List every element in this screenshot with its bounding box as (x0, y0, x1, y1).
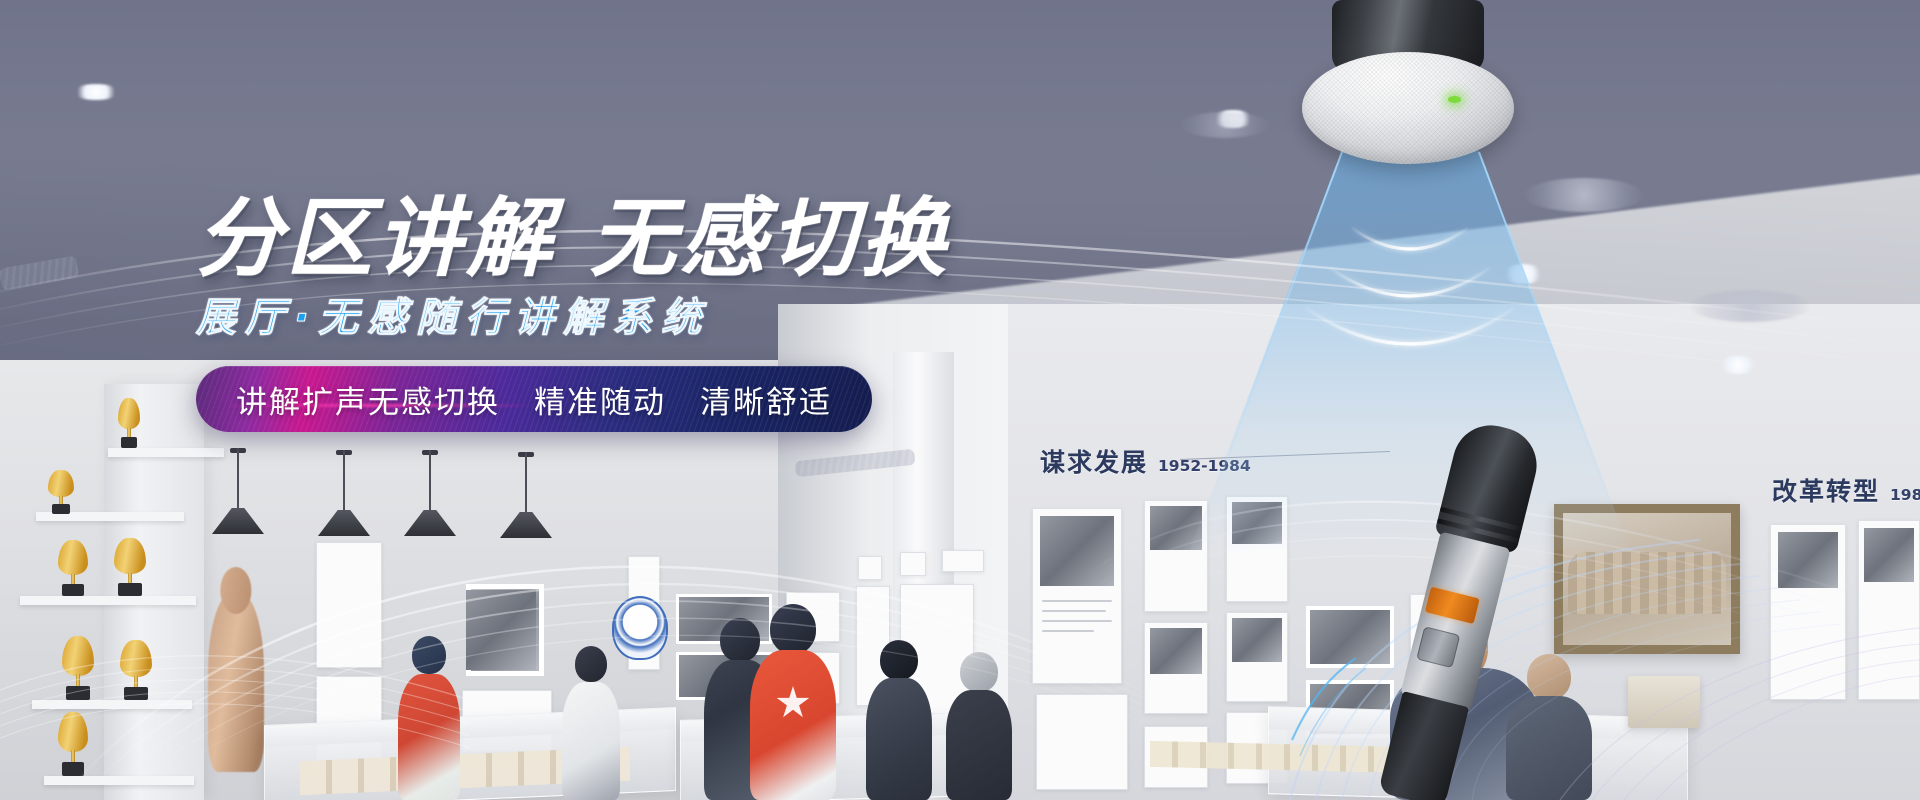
wall-section-title-2: 改革转型1984-2010 (1772, 472, 1920, 508)
trophy (118, 398, 140, 448)
school-emblem (612, 596, 668, 660)
power-led (1448, 96, 1461, 103)
visitor (398, 636, 460, 800)
trophy-display-shelf (44, 776, 194, 785)
pendant-lamp (400, 450, 460, 542)
visitor-body (750, 650, 836, 800)
visitor-head (960, 652, 998, 692)
ceiling-panel-3 (1180, 112, 1270, 138)
exhibit-photo (1306, 606, 1394, 668)
speaker-grille (1302, 52, 1514, 164)
ceiling-downlight-4 (1718, 356, 1758, 374)
banner-stage: 谋求发展1952-1984 改革转型1984-2010 (0, 0, 1920, 800)
exhibit-photo-portrait (466, 590, 536, 670)
wall-section-name: 谋求发展 (1040, 448, 1148, 477)
feature-label-1: 讲解扩声无感切换 (236, 377, 500, 422)
feature-label-3: 清晰舒适 (700, 377, 832, 422)
visitor (866, 640, 932, 800)
trophy (62, 636, 94, 700)
banner-text-block: 分区讲解 无感切换 展厅·无感随行讲解系统 讲解扩声无感切换 精准随动 清晰舒适 (196, 196, 950, 432)
visitor-body (562, 682, 620, 800)
visitor-body (398, 674, 460, 800)
wall-section-name: 改革转型 (1772, 477, 1880, 506)
visitor-head (575, 646, 607, 682)
visitor-head (770, 604, 816, 654)
trophy (120, 640, 152, 700)
feature-pill: 讲解扩声无感切换 精准随动 清晰舒适 (196, 366, 872, 432)
microphone-handle-base (1378, 691, 1468, 800)
wall-section-years: 1984-2010 (1890, 486, 1920, 504)
visitor (946, 652, 1012, 800)
visitor-head-with-cap (880, 640, 918, 680)
exhibit-panel (900, 552, 926, 576)
trophy (58, 540, 88, 596)
exhibit-photo (1040, 516, 1114, 586)
exhibit-photo (1150, 628, 1202, 674)
trophy-display-shelf (32, 700, 192, 709)
terracotta-statue (208, 592, 264, 772)
feature-label-2: 精准随动 (534, 377, 666, 422)
pendant-lamp (314, 450, 374, 542)
panel-text-line (1042, 620, 1112, 622)
panel-text-line (1042, 600, 1112, 602)
visitor-red-vest (750, 604, 836, 800)
visitor-body (946, 690, 1012, 800)
exhibit-panel (858, 556, 882, 580)
trophy-display-shelf (108, 448, 224, 457)
artwork-figures (1568, 552, 1726, 614)
page-subtitle: 展厅·无感随行讲解系统 (196, 298, 950, 338)
trophy (58, 712, 88, 776)
visitor-body (1506, 696, 1592, 800)
ceiling-speaker (1302, 0, 1514, 176)
exhibit-photo (1864, 528, 1914, 582)
visitor (1506, 654, 1592, 800)
visitor-head (1527, 654, 1571, 700)
panel-text-line (1042, 630, 1094, 632)
trophy (48, 470, 74, 514)
visitor-body (866, 678, 932, 800)
exhibit-pedestal (1628, 676, 1700, 728)
exhibit-panel (1036, 694, 1128, 790)
ceiling-panel-2 (1690, 290, 1810, 322)
visitor (562, 646, 620, 800)
ceiling-downlight (72, 84, 120, 100)
exhibit-photo (1232, 618, 1282, 662)
pendant-lamp (208, 448, 268, 540)
panel-text-line (1042, 610, 1106, 612)
page-title: 分区讲解 无感切换 (196, 196, 950, 282)
exhibit-panel (942, 550, 984, 572)
pendant-lamp (496, 452, 556, 544)
visitor-head (412, 636, 446, 674)
exhibit-panel (316, 542, 382, 668)
ceiling-panel (1524, 178, 1644, 212)
trophy (114, 538, 146, 596)
trophy-display-shelf (20, 596, 196, 605)
exhibit-photo (1778, 532, 1838, 588)
